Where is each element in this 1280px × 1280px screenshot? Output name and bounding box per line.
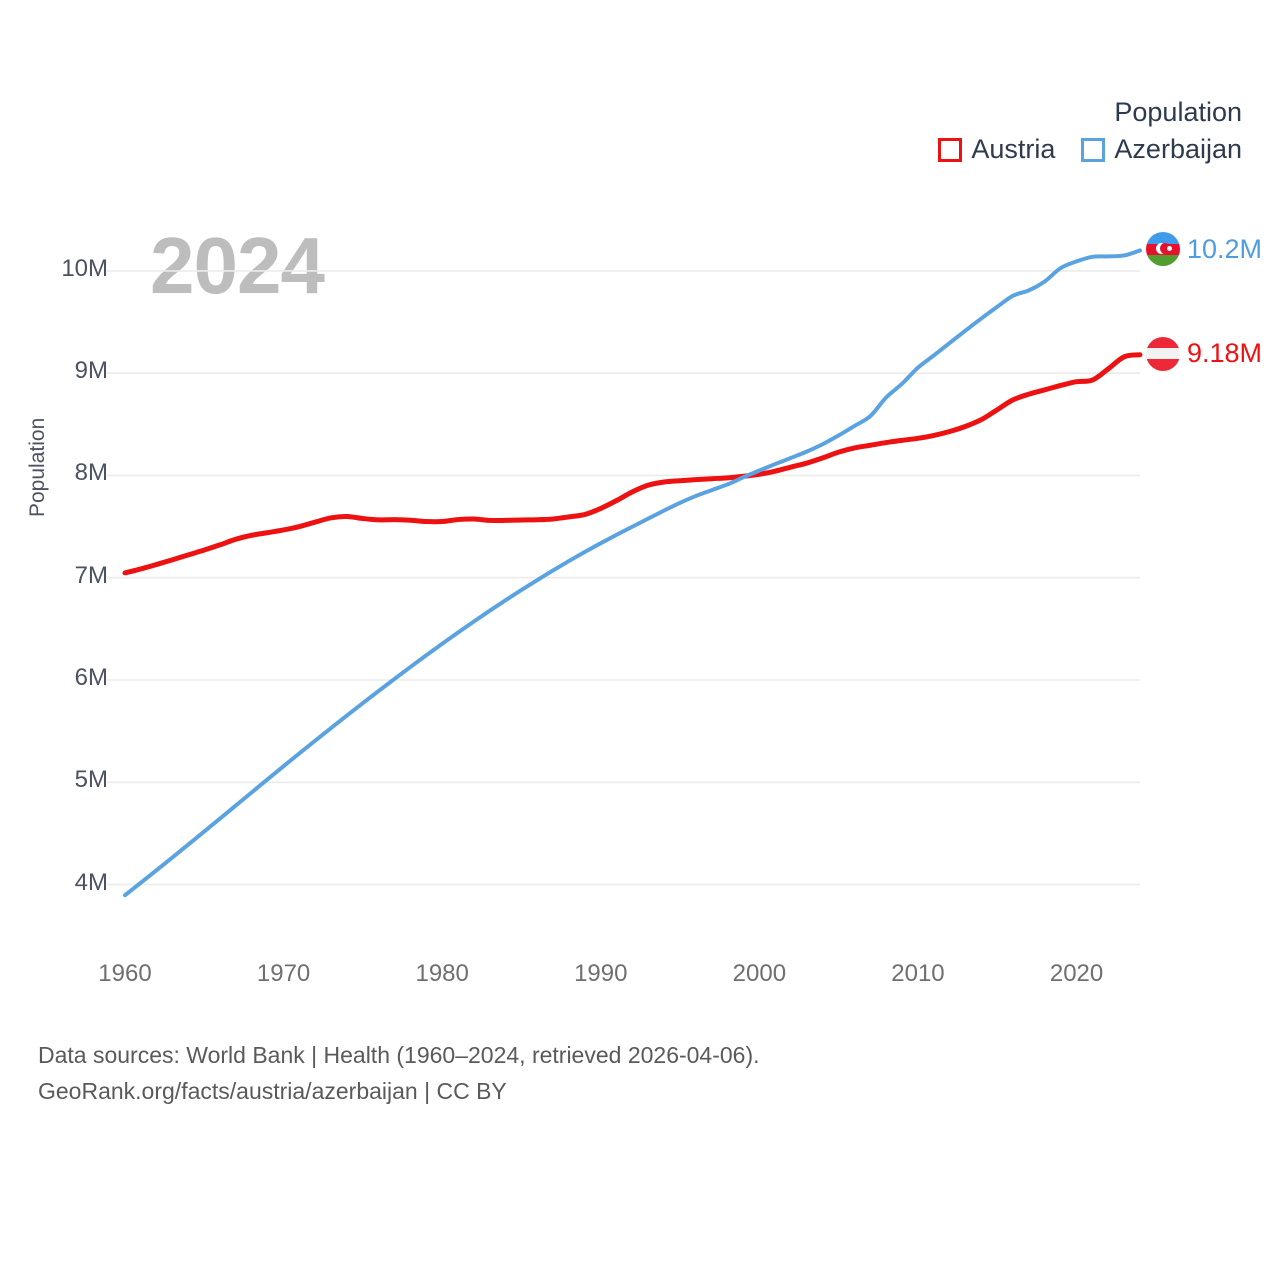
series-lines (125, 250, 1140, 895)
x-tick-label: 2010 (863, 960, 973, 988)
y-tick-label: 7M (22, 562, 108, 590)
x-tick-label: 1960 (70, 960, 180, 988)
azerbaijan-flag-icon (1146, 232, 1180, 266)
y-tick-label: 5M (22, 766, 108, 794)
footer-line-2: GeoRank.org/facts/austria/azerbaijan | C… (38, 1074, 760, 1110)
x-tick-label: 1990 (546, 960, 656, 988)
y-tick-label: 10M (22, 255, 108, 283)
end-label-azerbaijan: 10.2M (1146, 232, 1262, 266)
chart-canvas: Population 4M5M6M7M8M9M10M 1960197019801… (0, 0, 1280, 1010)
y-tick-label: 9M (22, 357, 108, 385)
end-label-austria: 9.18M (1146, 337, 1262, 371)
end-label-azerbaijan-value: 10.2M (1187, 234, 1262, 265)
x-tick-label: 2000 (704, 960, 814, 988)
footer-credits: Data sources: World Bank | Health (1960–… (38, 1038, 760, 1109)
footer-line-1: Data sources: World Bank | Health (1960–… (38, 1038, 760, 1074)
plot-svg (0, 0, 1280, 1010)
y-tick-label: 6M (22, 664, 108, 692)
x-tick-label: 1970 (229, 960, 339, 988)
chart-page: Population Austria Azerbaijan 2024 Popul… (0, 0, 1280, 1280)
gridlines (107, 271, 1140, 885)
end-label-austria-value: 9.18M (1187, 338, 1262, 369)
y-tick-label: 4M (22, 869, 108, 897)
y-tick-label: 8M (22, 459, 108, 487)
series-line-azerbaijan (125, 250, 1140, 895)
austria-flag-icon (1146, 337, 1180, 371)
series-line-austria (125, 355, 1140, 573)
x-tick-label: 1980 (387, 960, 497, 988)
x-tick-label: 2020 (1022, 960, 1132, 988)
